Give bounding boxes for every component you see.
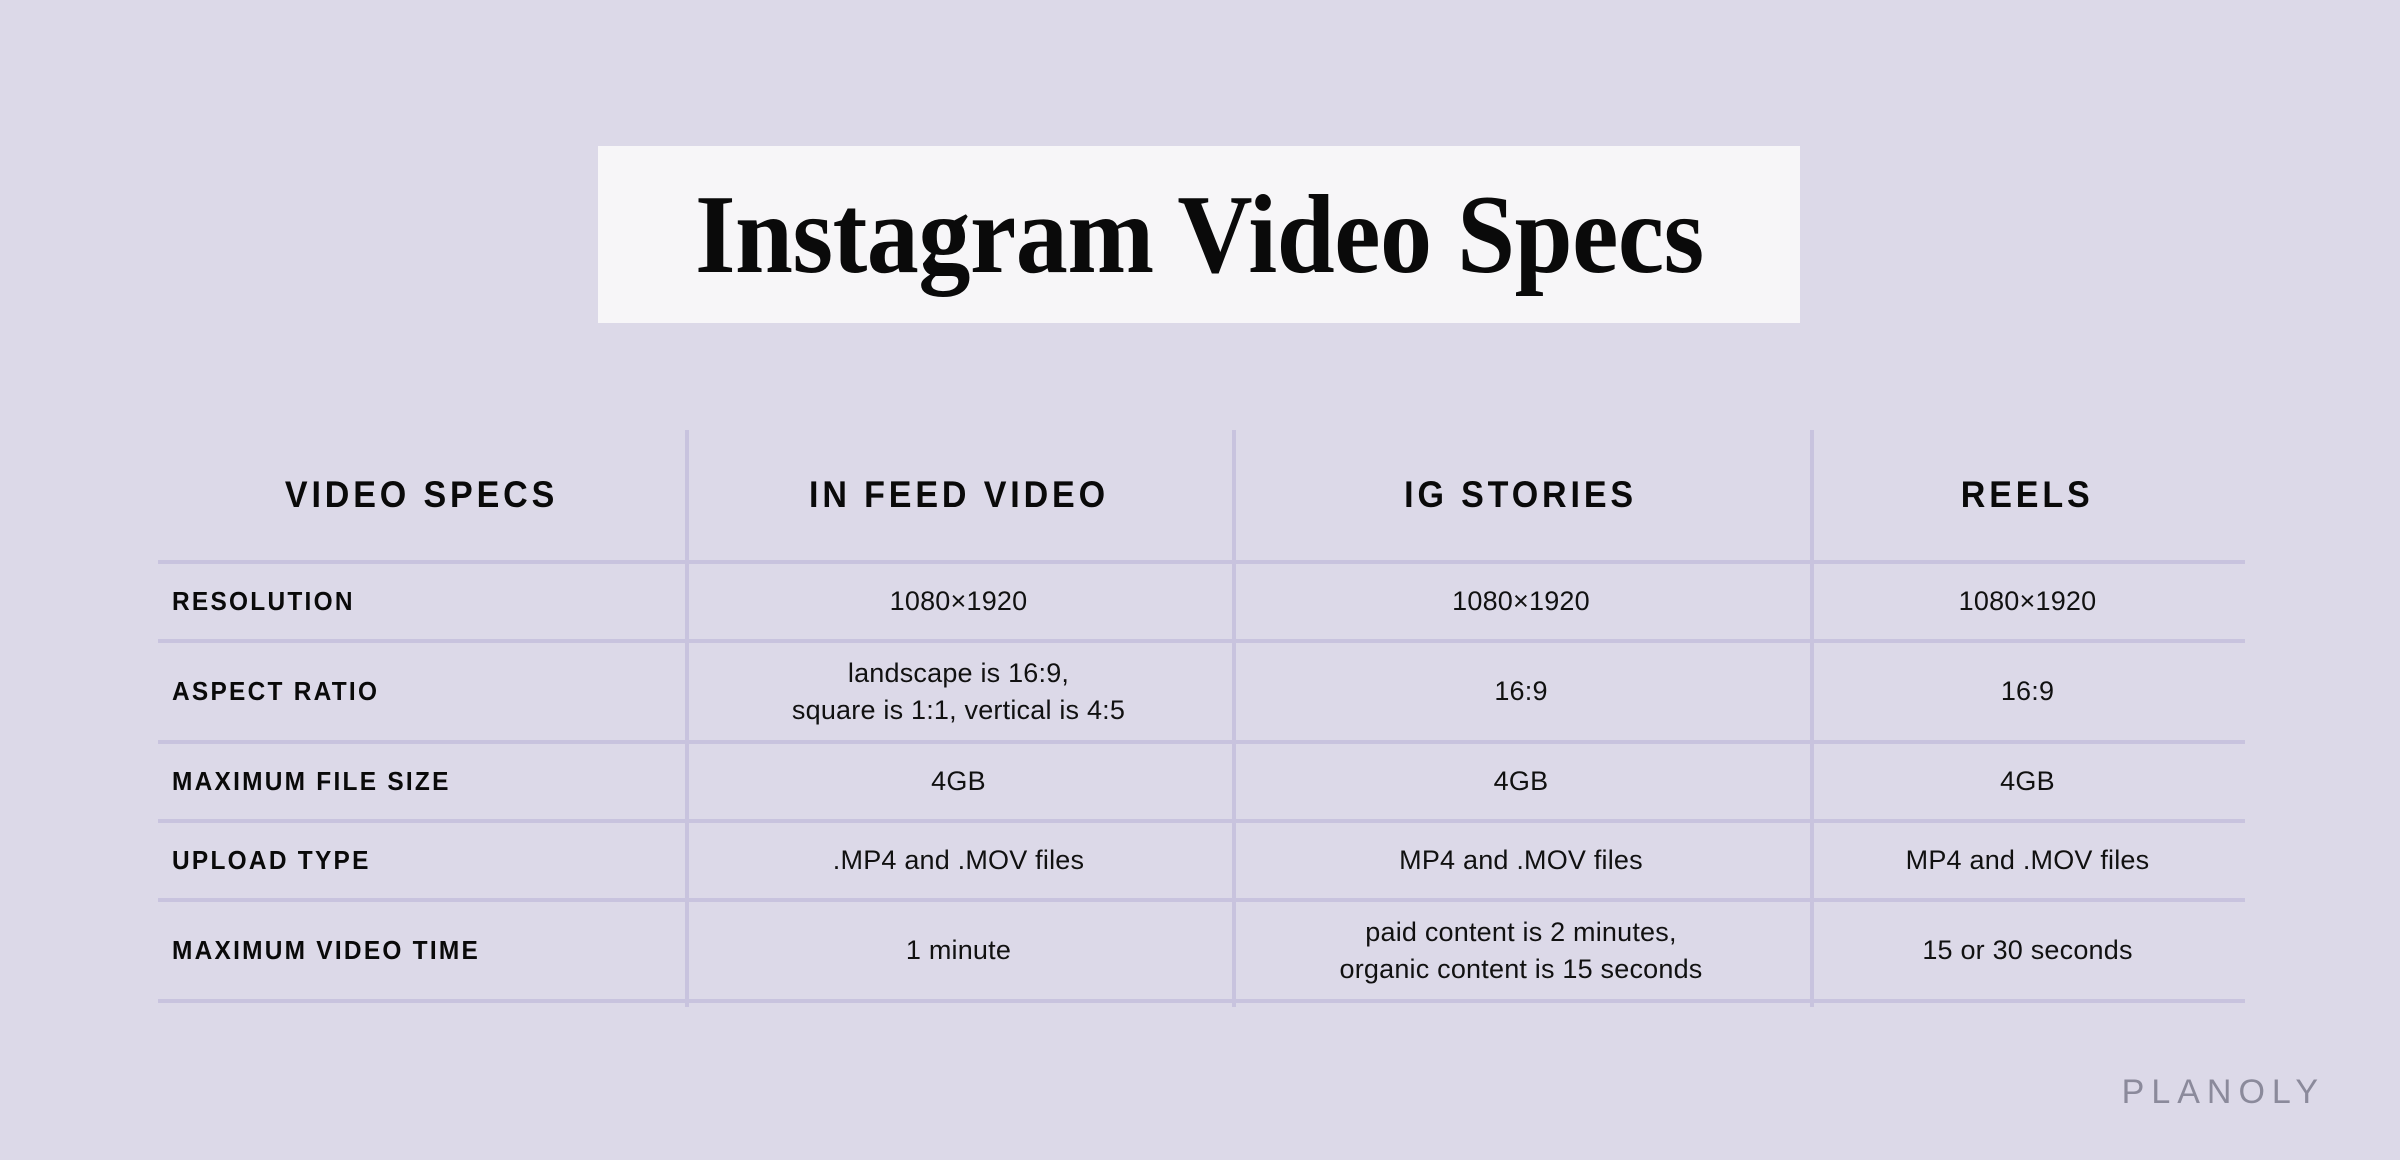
table-row: MAXIMUM VIDEO TIME 1 minute paid content… <box>158 898 2245 999</box>
row-label: MAXIMUM FILE SIZE <box>172 766 451 797</box>
table-header-cell-ig-stories: IG STORIES <box>1232 430 1810 560</box>
table-row: MAXIMUM FILE SIZE 4GB 4GB 4GB <box>158 740 2245 819</box>
table-cell-ig-stories: MP4 and .MOV files <box>1232 823 1810 898</box>
cell-value: landscape is 16:9, square is 1:1, vertic… <box>792 655 1125 728</box>
column-header-label: VIDEO SPECS <box>285 474 558 516</box>
table-cell-in-feed-video: 1 minute <box>685 902 1232 999</box>
cell-value: 4GB <box>2000 763 2055 799</box>
table-row-label-cell: MAXIMUM VIDEO TIME <box>158 902 685 999</box>
row-label: UPLOAD TYPE <box>172 845 371 876</box>
cell-value: 1 minute <box>906 932 1011 968</box>
cell-value: MP4 and .MOV files <box>1399 842 1643 878</box>
table-header-cell-reels: REELS <box>1810 430 2245 560</box>
row-label: ASPECT RATIO <box>172 676 379 707</box>
table-bottom-divider <box>158 999 2245 1003</box>
table-header-cell-in-feed-video: IN FEED VIDEO <box>685 430 1232 560</box>
title-banner: Instagram Video Specs <box>598 146 1800 323</box>
table-cell-ig-stories: paid content is 2 minutes, organic conte… <box>1232 902 1810 999</box>
table-cell-reels: 16:9 <box>1810 643 2245 740</box>
table-row: RESOLUTION 1080×1920 1080×1920 1080×1920 <box>158 560 2245 639</box>
table-cell-ig-stories: 16:9 <box>1232 643 1810 740</box>
table-row: UPLOAD TYPE .MP4 and .MOV files MP4 and … <box>158 819 2245 898</box>
row-label: MAXIMUM VIDEO TIME <box>172 935 480 966</box>
table-cell-reels: MP4 and .MOV files <box>1810 823 2245 898</box>
table-header-cell-video-specs: VIDEO SPECS <box>158 430 685 560</box>
table-row-label-cell: ASPECT RATIO <box>158 643 685 740</box>
table-cell-in-feed-video: landscape is 16:9, square is 1:1, vertic… <box>685 643 1232 740</box>
cell-value: 16:9 <box>1494 673 1547 709</box>
column-header-label: IG STORIES <box>1405 474 1638 516</box>
table-cell-reels: 1080×1920 <box>1810 564 2245 639</box>
table-cell-reels: 4GB <box>1810 744 2245 819</box>
cell-value: MP4 and .MOV files <box>1906 842 2150 878</box>
cell-value: 16:9 <box>2001 673 2054 709</box>
video-specs-table: VIDEO SPECS IN FEED VIDEO IG STORIES REE… <box>158 430 2245 1003</box>
cell-value: paid content is 2 minutes, organic conte… <box>1339 914 1702 987</box>
cell-value: 4GB <box>931 763 986 799</box>
table-cell-ig-stories: 1080×1920 <box>1232 564 1810 639</box>
row-label: RESOLUTION <box>172 586 355 617</box>
table-cell-in-feed-video: 4GB <box>685 744 1232 819</box>
column-divider <box>1810 430 1814 1007</box>
table-cell-in-feed-video: .MP4 and .MOV files <box>685 823 1232 898</box>
table-row: ASPECT RATIO landscape is 16:9, square i… <box>158 639 2245 740</box>
column-header-label: REELS <box>1961 474 2094 516</box>
planoly-watermark: PLANOLY <box>2122 1073 2325 1112</box>
table-cell-reels: 15 or 30 seconds <box>1810 902 2245 999</box>
table-header-row: VIDEO SPECS IN FEED VIDEO IG STORIES REE… <box>158 430 2245 560</box>
table-row-label-cell: MAXIMUM FILE SIZE <box>158 744 685 819</box>
cell-value: 1080×1920 <box>890 583 1028 619</box>
column-divider <box>685 430 689 1007</box>
table-row-label-cell: UPLOAD TYPE <box>158 823 685 898</box>
column-header-label: IN FEED VIDEO <box>809 474 1109 516</box>
cell-value: 1080×1920 <box>1959 583 2097 619</box>
table-grid: VIDEO SPECS IN FEED VIDEO IG STORIES REE… <box>158 430 2245 1003</box>
cell-value: .MP4 and .MOV files <box>833 842 1084 878</box>
table-cell-ig-stories: 4GB <box>1232 744 1810 819</box>
cell-value: 1080×1920 <box>1452 583 1590 619</box>
page-title: Instagram Video Specs <box>695 179 1704 291</box>
table-cell-in-feed-video: 1080×1920 <box>685 564 1232 639</box>
table-row-label-cell: RESOLUTION <box>158 564 685 639</box>
cell-value: 15 or 30 seconds <box>1922 932 2132 968</box>
column-divider <box>1232 430 1236 1007</box>
cell-value: 4GB <box>1494 763 1549 799</box>
